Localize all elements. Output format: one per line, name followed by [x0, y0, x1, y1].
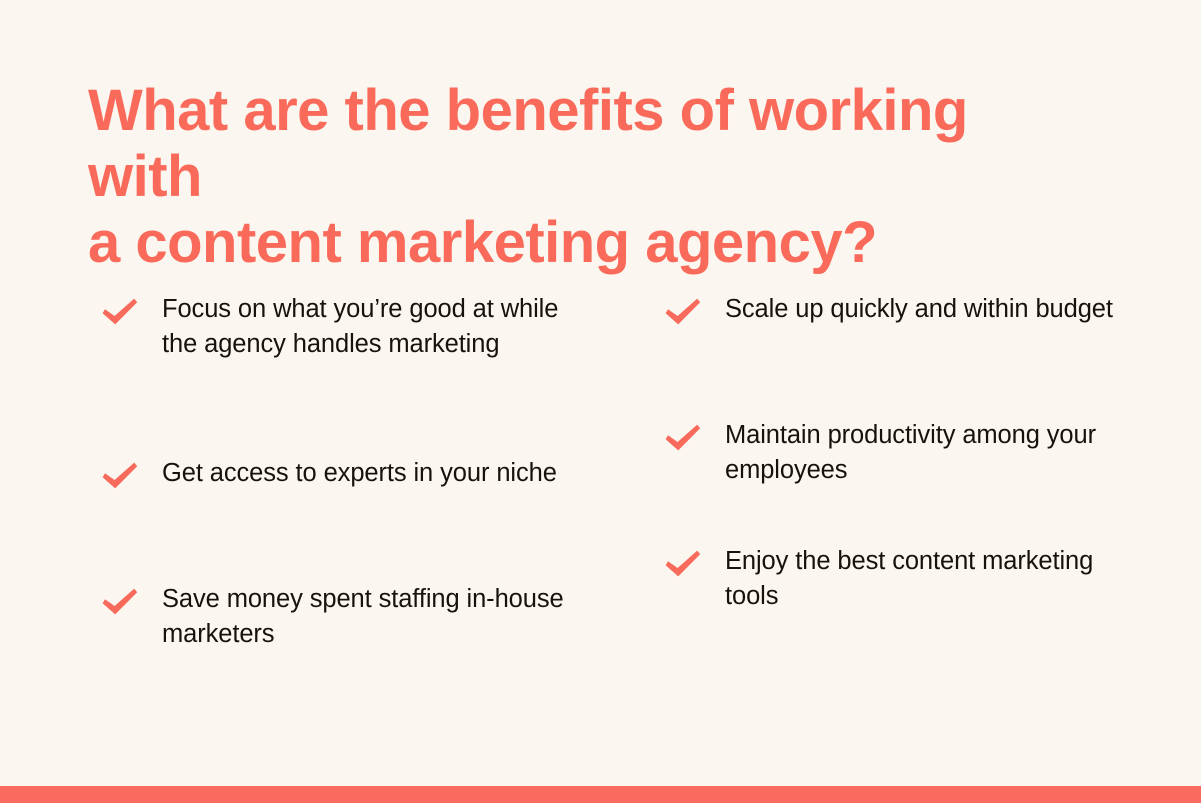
accent-bar: [0, 786, 1201, 803]
check-icon: [663, 548, 703, 580]
check-icon: [100, 586, 140, 618]
list-item: Enjoy the best content marketing tools: [663, 544, 1133, 614]
benefits-list: Focus on what you’re good at while the a…: [0, 280, 1201, 700]
infographic-canvas: What are the benefits of working with a …: [0, 0, 1201, 803]
list-item: Focus on what you’re good at while the a…: [100, 292, 570, 362]
list-item-label: Focus on what you’re good at while the a…: [162, 292, 570, 362]
list-item-label: Get access to experts in your niche: [162, 456, 570, 491]
list-item-label: Save money spent staffing in-house marke…: [162, 582, 570, 652]
list-item: Maintain productivity among your employe…: [663, 418, 1133, 488]
list-item-label: Scale up quickly and within budget: [725, 292, 1133, 327]
check-icon: [100, 460, 140, 492]
list-item: Get access to experts in your niche: [100, 456, 570, 492]
list-item-label: Maintain productivity among your employe…: [725, 418, 1133, 488]
list-item: Scale up quickly and within budget: [663, 292, 1133, 328]
list-item: Save money spent staffing in-house marke…: [100, 582, 570, 652]
check-icon: [663, 296, 703, 328]
check-icon: [663, 422, 703, 454]
page-title: What are the benefits of working with a …: [88, 78, 1088, 276]
list-item-label: Enjoy the best content marketing tools: [725, 544, 1133, 614]
check-icon: [100, 296, 140, 328]
